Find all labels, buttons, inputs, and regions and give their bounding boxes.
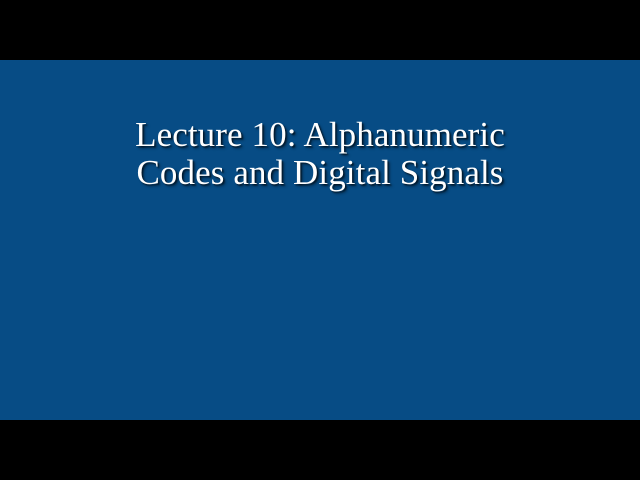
letterbox-bar-bottom [0,420,640,480]
slide-title: Lecture 10: Alphanumeric Codes and Digit… [0,116,640,192]
title-slide [0,60,640,420]
letterbox-bar-top [0,0,640,60]
video-frame: Lecture 10: Alphanumeric Codes and Digit… [0,0,640,480]
slide-title-line-2: Codes and Digital Signals [0,154,640,192]
slide-title-line-1: Lecture 10: Alphanumeric [0,116,640,154]
